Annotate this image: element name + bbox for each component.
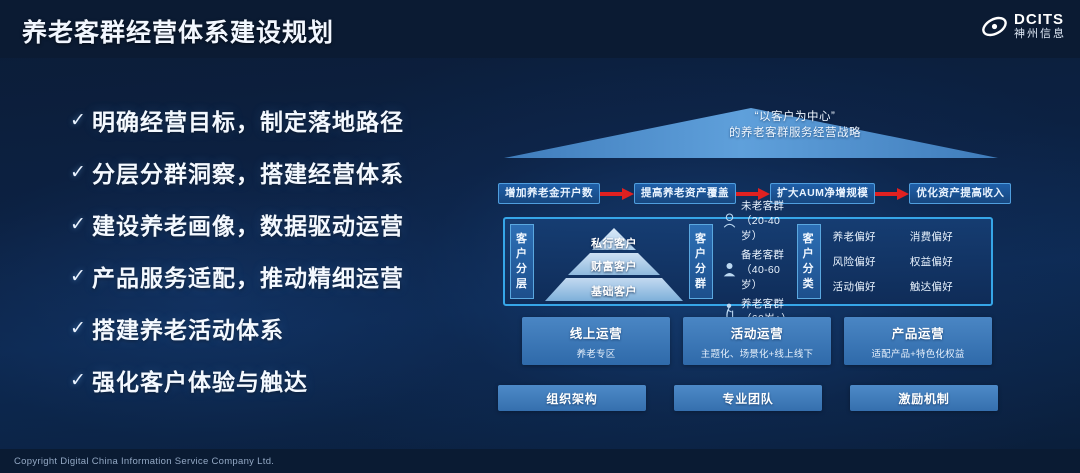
operation-title: 产品运营: [892, 323, 944, 342]
layer-label-c4: 层: [516, 277, 528, 292]
category-tag: 触达偏好: [910, 274, 987, 299]
pyramid-tier-label: 财富客户: [544, 258, 684, 274]
roof-line-1: “以客户为中心”: [610, 109, 980, 125]
operation-box[interactable]: 线上运营 养老专区: [522, 317, 670, 365]
kpi-box[interactable]: 优化资产提高收入: [909, 183, 1011, 204]
copyright-text: Copyright Digital China Information Serv…: [0, 456, 274, 467]
logo-wordmark: DCITS 神州信息: [1014, 12, 1066, 40]
right-arrow-icon: [600, 188, 634, 200]
kpi-box[interactable]: 提高养老资产覆盖: [634, 183, 736, 204]
strategy-diagram: “以客户为中心” 的养老客群服务经营战略 增加养老金开户数 提高养老资产覆盖 扩…: [490, 95, 1010, 435]
group-label-c2: 户: [695, 247, 707, 262]
check-icon: ✓: [70, 317, 92, 340]
category-label-c2: 户: [803, 247, 815, 262]
layer-label-c1: 客: [516, 232, 528, 247]
group-label-c1: 客: [695, 232, 707, 247]
category-tag: 消费偏好: [910, 224, 987, 249]
check-icon: ✓: [70, 161, 92, 184]
bullet-list: ✓ 明确经营目标，制定落地路径 ✓ 分层分群洞察，搭建经营体系 ✓ 建设养老画像…: [70, 103, 470, 415]
category-label-c3: 分: [803, 262, 815, 277]
layer-label-c3: 分: [516, 262, 528, 277]
category-label-c1: 客: [803, 232, 815, 247]
check-icon: ✓: [70, 213, 92, 236]
bullet-text: 明确经营目标，制定落地路径: [92, 103, 404, 137]
elderly-person-icon: [723, 303, 736, 318]
bullet-item: ✓ 建设养老画像，数据驱动运营: [70, 207, 470, 241]
operation-subtitle: 适配产品+特色化权益: [871, 346, 964, 360]
kpi-box[interactable]: 增加养老金开户数: [498, 183, 600, 204]
operation-subtitle: 养老专区: [577, 346, 616, 360]
adult-person-icon: [723, 262, 736, 277]
category-label-c4: 类: [803, 277, 815, 292]
swirl-icon: [981, 13, 1008, 40]
group-list-text: 备老客群（40-60岁）: [741, 247, 796, 292]
bullet-text: 强化客户体验与触达: [92, 363, 308, 397]
right-arrow-icon: [875, 188, 909, 200]
operation-box[interactable]: 活动运营 主题化、场景化+线上线下: [683, 317, 831, 365]
group-label-c3: 分: [695, 262, 707, 277]
check-icon: ✓: [70, 369, 92, 392]
check-icon: ✓: [70, 109, 92, 132]
bullet-item: ✓ 产品服务适配，推动精细运营: [70, 259, 470, 293]
check-icon: ✓: [70, 265, 92, 288]
customer-group-list: 未老客群（20-40岁） 备老客群（40-60岁）: [717, 223, 796, 300]
foundation-box[interactable]: 专业团队: [674, 385, 822, 411]
group-label-c4: 群: [695, 277, 707, 292]
panel-label-layer: 客 户 分 层: [510, 224, 534, 299]
pyramid-tier-label: 基础客户: [544, 283, 684, 299]
roof-strategy-label: “以客户为中心” 的养老客群服务经营战略: [610, 109, 980, 141]
logo-en: DCITS: [1014, 12, 1066, 27]
category-tag: 权益偏好: [910, 249, 987, 274]
pyramid-tier-label: 私行客户: [544, 235, 684, 251]
young-person-icon: [723, 213, 736, 228]
bullet-item: ✓ 搭建养老活动体系: [70, 311, 470, 345]
bullet-text: 分层分群洞察，搭建经营体系: [92, 155, 404, 189]
bullet-item: ✓ 强化客户体验与触达: [70, 363, 470, 397]
layer-label-c2: 户: [516, 247, 528, 262]
bullet-item: ✓ 明确经营目标，制定落地路径: [70, 103, 470, 137]
slide-header: 养老客群经营体系建设规划 DCITS 神州信息: [0, 0, 1080, 58]
bullet-text: 产品服务适配，推动精细运营: [92, 259, 404, 293]
logo-cn: 神州信息: [1014, 29, 1066, 40]
page-title: 养老客群经营体系建设规划: [22, 13, 334, 49]
panel-label-group: 客 户 分 群: [689, 224, 713, 299]
operation-subtitle: 主题化、场景化+线上线下: [701, 346, 813, 360]
foundation-row: 组织架构 专业团队 激励机制: [498, 385, 998, 411]
bullet-text: 建设养老画像，数据驱动运营: [92, 207, 404, 241]
foundation-box[interactable]: 激励机制: [850, 385, 998, 411]
foundation-box[interactable]: 组织架构: [498, 385, 646, 411]
panel-label-category: 客 户 分 类: [797, 224, 821, 299]
customer-pyramid: 私行客户 财富客户 基础客户: [538, 223, 688, 300]
brand-logo: DCITS 神州信息: [981, 12, 1066, 40]
group-list-text: 未老客群（20-40岁）: [741, 198, 796, 243]
bullet-text: 搭建养老活动体系: [92, 311, 284, 345]
slide-canvas: 养老客群经营体系建设规划 DCITS 神州信息 ✓ 明确经营目标，制定落地路径 …: [0, 0, 1080, 473]
customer-panel: 客 户 分 层: [503, 217, 993, 306]
operation-title: 活动运营: [731, 323, 783, 342]
bullet-item: ✓ 分层分群洞察，搭建经营体系: [70, 155, 470, 189]
operation-box[interactable]: 产品运营 适配产品+特色化权益: [844, 317, 992, 365]
roof-line-2: 的养老客群服务经营战略: [610, 125, 980, 141]
slide-footer: Copyright Digital China Information Serv…: [0, 449, 1080, 473]
category-tag: 风险偏好: [833, 249, 910, 274]
group-list-item: 备老客群（40-60岁）: [723, 247, 796, 292]
category-tag: 活动偏好: [833, 274, 910, 299]
operation-title: 线上运营: [570, 323, 622, 342]
operation-row: 线上运营 养老专区 活动运营 主题化、场景化+线上线下 产品运营 适配产品+特色…: [522, 317, 992, 365]
customer-category-tags: 养老偏好 消费偏好 风险偏好 权益偏好 活动偏好 触达偏好: [825, 223, 987, 300]
pyramid-shape: 私行客户 财富客户 基础客户: [544, 226, 684, 301]
category-tag: 养老偏好: [833, 224, 910, 249]
group-list-item: 未老客群（20-40岁）: [723, 198, 796, 243]
